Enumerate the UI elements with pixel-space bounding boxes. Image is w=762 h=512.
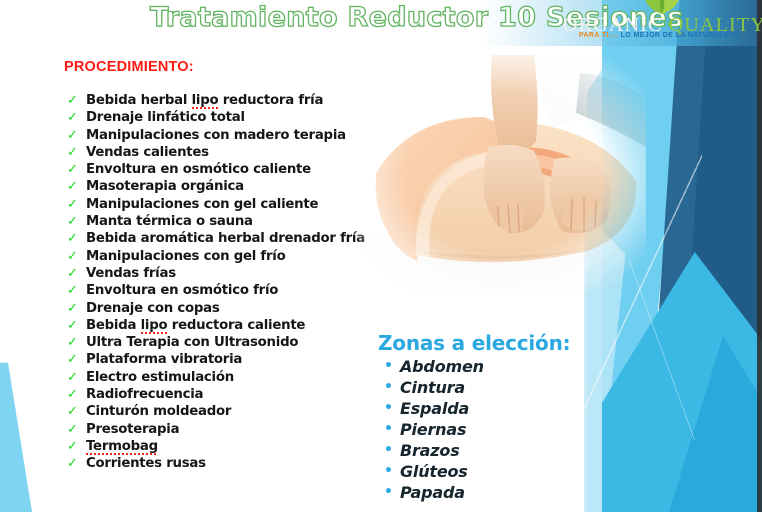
- zone-item-label: Glúteos: [400, 462, 468, 481]
- procedure-item-label: Manipulaciones con madero terapia: [86, 128, 346, 143]
- procedure-item-label: Envoltura en osmótico caliente: [86, 162, 311, 177]
- bullet-icon: •: [384, 419, 393, 440]
- procedure-item-label: Electro estimulación: [86, 370, 234, 385]
- procedure-list-item: ✓Manipulaciones con gel frío: [64, 248, 364, 265]
- bullet-icon: •: [384, 482, 393, 503]
- check-icon: ✓: [67, 265, 79, 282]
- procedure-item-label: Vendas frías: [86, 266, 176, 281]
- procedure-item-label: Manipulaciones con gel caliente: [86, 197, 318, 212]
- procedure-list-item: ✓Bebida lipo reductora caliente: [64, 317, 364, 334]
- procedure-item-label: Ultra Terapia con Ultrasonido: [86, 335, 298, 350]
- spellcheck-squiggle: Termobag: [86, 439, 158, 455]
- procedure-item-label: Manipulaciones con gel frío: [86, 249, 285, 264]
- check-icon: ✓: [67, 386, 79, 403]
- procedure-list-item: ✓Ultra Terapia con Ultrasonido: [64, 334, 364, 351]
- procedure-item-label: Masoterapia orgánica: [86, 179, 244, 194]
- zone-list-item: •Glúteos: [378, 461, 608, 482]
- check-icon: ✓: [67, 455, 79, 472]
- procedure-item-label: Drenaje linfático total: [86, 110, 245, 125]
- procedure-item-label: Cinturón moldeador: [86, 404, 231, 419]
- check-icon: ✓: [67, 334, 79, 351]
- procedure-list-item: ✓Cinturón moldeador: [64, 403, 364, 420]
- procedure-list-item: ✓Termobag: [64, 438, 364, 455]
- check-icon: ✓: [67, 438, 79, 455]
- zone-item-label: Brazos: [400, 441, 460, 460]
- procedure-list: ✓Bebida herbal lipo reductora fría✓Drena…: [64, 92, 364, 473]
- procedure-list-item: ✓Envoltura en osmótico frío: [64, 282, 364, 299]
- brand-logo: ORGANIC QUALITY PARA TI.... LO MEJOR DE …: [563, 1, 755, 43]
- procedure-item-label: Corrientes rusas: [86, 456, 206, 471]
- zone-list-item: •Brazos: [378, 440, 608, 461]
- check-icon: ✓: [67, 127, 79, 144]
- zone-list-item: •Espalda: [378, 398, 608, 419]
- procedure-list-item: ✓Vendas frías: [64, 265, 364, 282]
- procedure-list-item: ✓Manipulaciones con gel caliente: [64, 196, 364, 213]
- zone-item-label: Abdomen: [400, 357, 484, 376]
- bullet-icon: •: [384, 461, 393, 482]
- massage-photo: [358, 55, 646, 290]
- leaf-icon: [641, 0, 683, 15]
- zone-item-label: Cintura: [400, 378, 465, 397]
- zones-list: •Abdomen•Cintura•Espalda•Piernas•Brazos•…: [378, 356, 608, 503]
- facet-bottom-cyan: [602, 252, 762, 512]
- procedure-item-label: Presoterapia: [86, 422, 179, 437]
- zone-list-item: •Papada: [378, 482, 608, 503]
- bullet-icon: •: [384, 440, 393, 461]
- procedure-item-label: Radiofrecuencia: [86, 387, 203, 402]
- check-icon: ✓: [67, 230, 79, 247]
- zone-list-item: •Cintura: [378, 377, 608, 398]
- procedure-list-item: ✓Radiofrecuencia: [64, 386, 364, 403]
- procedure-list-item: ✓Masoterapia orgánica: [64, 178, 364, 195]
- logo-tagline-part1: PARA TI....: [579, 32, 621, 39]
- logo-tagline: PARA TI.... LO MEJOR DE LA NATURALEZA: [563, 32, 755, 39]
- bullet-icon: •: [384, 356, 393, 377]
- procedure-item-label: Vendas calientes: [86, 145, 209, 160]
- check-icon: ✓: [67, 282, 79, 299]
- zone-item-label: Piernas: [400, 420, 466, 439]
- check-icon: ✓: [67, 161, 79, 178]
- check-icon: ✓: [67, 144, 79, 161]
- check-icon: ✓: [67, 92, 79, 109]
- zone-list-item: •Abdomen: [378, 356, 608, 377]
- zone-item-label: Papada: [400, 483, 465, 502]
- check-icon: ✓: [67, 421, 79, 438]
- procedure-list-item: ✓Manipulaciones con madero terapia: [64, 127, 364, 144]
- slide-canvas: Tratamiento Reductor 10 Sesiones ORGANIC…: [0, 0, 762, 512]
- zones-heading: Zonas a elección:: [378, 331, 570, 355]
- facet-left-triangle: [0, 330, 60, 512]
- bullet-icon: •: [384, 377, 393, 398]
- slide-right-edge: [757, 0, 762, 512]
- procedure-list-item: ✓Bebida aromática herbal drenador fría: [64, 230, 364, 247]
- bullet-icon: •: [384, 398, 393, 419]
- procedure-list-item: ✓Vendas calientes: [64, 144, 364, 161]
- procedure-item-label: Bebida aromática herbal drenador fría: [86, 231, 365, 246]
- procedure-item-label: Termobag: [86, 439, 158, 455]
- zone-item-label: Espalda: [400, 399, 469, 418]
- spellcheck-squiggle: lipo: [141, 318, 168, 334]
- check-icon: ✓: [67, 109, 79, 126]
- check-icon: ✓: [67, 248, 79, 265]
- procedure-list-item: ✓Manta térmica o sauna: [64, 213, 364, 230]
- procedure-list-item: ✓Electro estimulación: [64, 369, 364, 386]
- spellcheck-squiggle: lipo: [192, 93, 219, 109]
- procedure-list-item: ✓Drenaje linfático total: [64, 109, 364, 126]
- procedure-list-item: ✓Bebida herbal lipo reductora fría: [64, 92, 364, 109]
- facet-bottom-cyan-overlay: [612, 312, 762, 512]
- procedure-item-label: Drenaje con copas: [86, 301, 220, 316]
- logo-tagline-part2: LO MEJOR DE LA NATURALEZA: [621, 32, 740, 39]
- check-icon: ✓: [67, 300, 79, 317]
- check-icon: ✓: [67, 369, 79, 386]
- zone-list-item: •Piernas: [378, 419, 608, 440]
- check-icon: ✓: [67, 213, 79, 230]
- procedure-item-label: Bebida lipo reductora caliente: [86, 318, 305, 334]
- procedure-item-label: Plataforma vibratoria: [86, 352, 242, 367]
- procedure-list-item: ✓Plataforma vibratoria: [64, 351, 364, 368]
- procedure-list-item: ✓Corrientes rusas: [64, 455, 364, 472]
- procedure-item-label: Manta térmica o sauna: [86, 214, 253, 229]
- check-icon: ✓: [67, 403, 79, 420]
- check-icon: ✓: [67, 178, 79, 195]
- procedure-list-item: ✓Envoltura en osmótico caliente: [64, 161, 364, 178]
- procedure-item-label: Envoltura en osmótico frío: [86, 283, 278, 298]
- procedure-item-label: Bebida herbal lipo reductora fría: [86, 93, 323, 109]
- check-icon: ✓: [67, 351, 79, 368]
- check-icon: ✓: [67, 196, 79, 213]
- check-icon: ✓: [67, 317, 79, 334]
- procedure-list-item: ✓Drenaje con copas: [64, 300, 364, 317]
- procedure-list-item: ✓Presoterapia: [64, 421, 364, 438]
- procedure-heading: PROCEDIMIENTO:: [64, 59, 194, 75]
